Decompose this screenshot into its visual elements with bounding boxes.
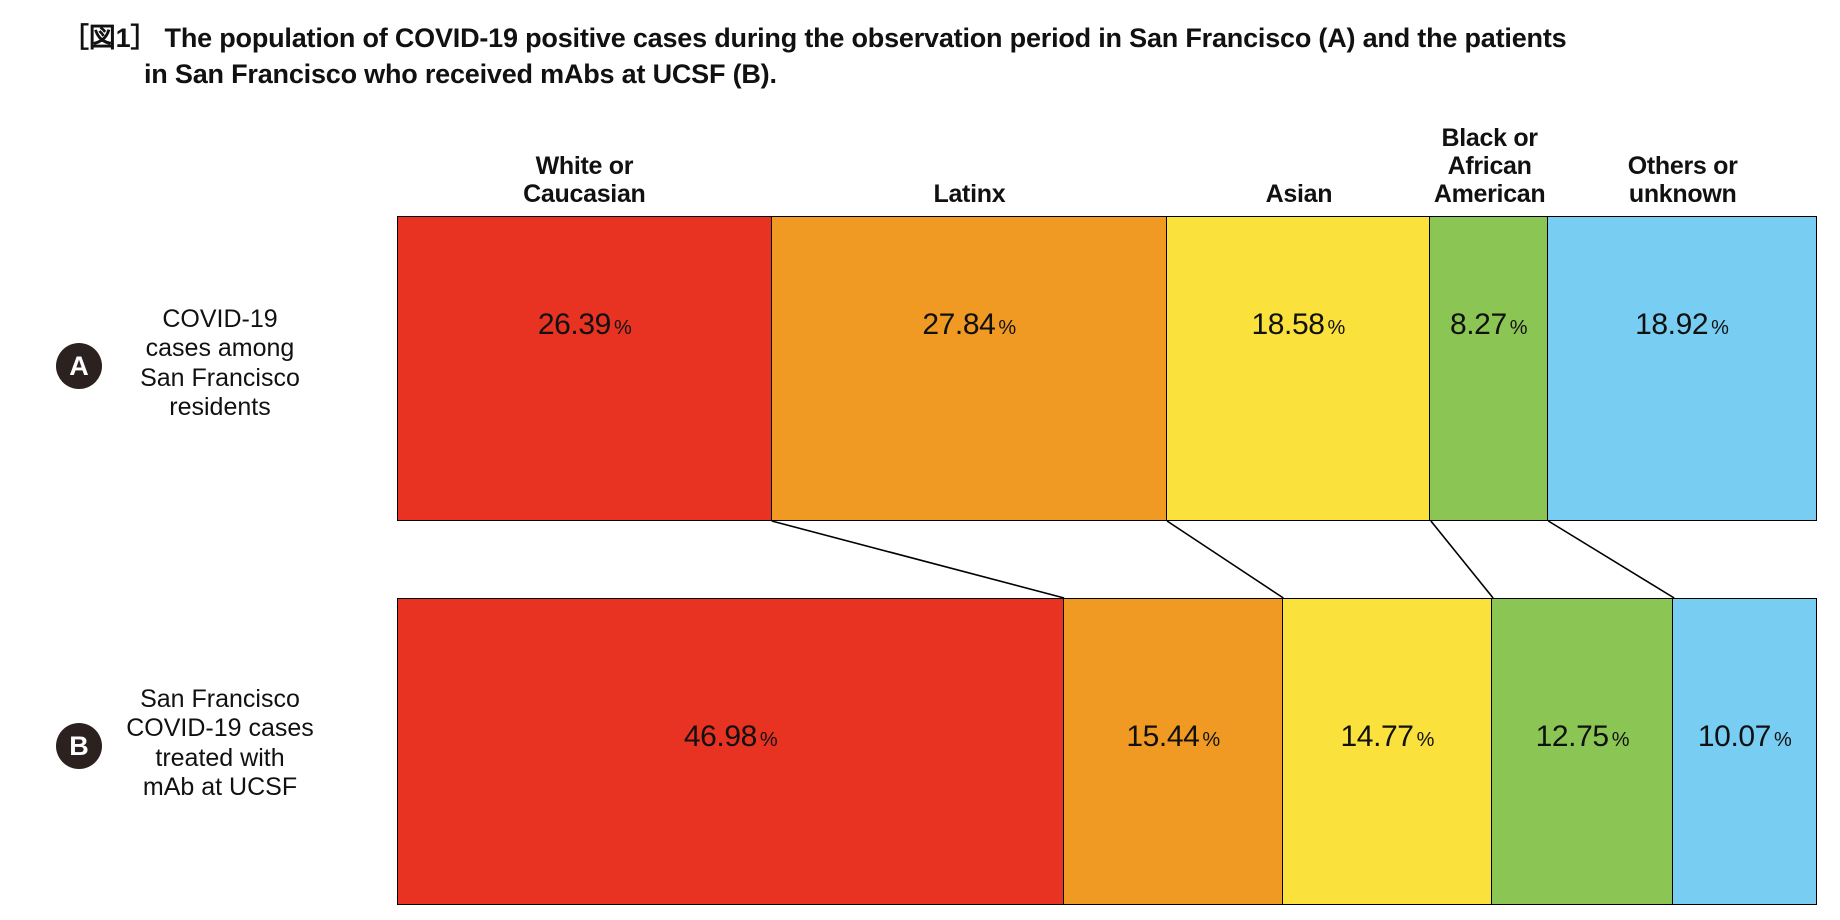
percent-symbol: %	[1417, 729, 1434, 751]
bar-segment: 12.75%	[1492, 599, 1673, 904]
segment-value-label: 14.77%	[1341, 722, 1434, 752]
bar-row-a: 26.39%27.84%18.58%8.27%18.92%	[397, 216, 1817, 521]
stacked-bar-chart: 26.39%27.84%18.58%8.27%18.92% 46.98%15.4…	[397, 216, 1817, 905]
connector-line	[772, 521, 1064, 598]
percent-symbol: %	[1612, 729, 1629, 751]
segment-value-label: 27.84%	[922, 310, 1015, 340]
percent-symbol: %	[1202, 729, 1219, 751]
figure-title-line2: in San Francisco who received mAbs at UC…	[62, 56, 1822, 92]
column-header-2: Latinx	[933, 180, 1005, 208]
column-header-4: Black or African American	[1434, 124, 1546, 208]
row-label-b: San Francisco COVID-19 cases treated wit…	[60, 685, 380, 802]
column-header-3: Asian	[1266, 180, 1333, 208]
percent-symbol: %	[1774, 729, 1791, 751]
connector-line	[1548, 521, 1674, 598]
column-headers: White or CaucasianLatinxAsianBlack or Af…	[397, 106, 1817, 212]
connector-line	[1167, 521, 1283, 598]
figure-title-line1: The population of COVID-19 positive case…	[165, 23, 1567, 53]
segment-value-label: 12.75%	[1536, 722, 1629, 752]
bar-segment: 26.39%	[398, 217, 772, 520]
segment-value-label: 10.07%	[1698, 722, 1791, 752]
segment-value-label: 18.92%	[1635, 310, 1728, 340]
percent-symbol: %	[1711, 317, 1728, 339]
segment-value-label: 15.44%	[1126, 722, 1219, 752]
segment-value-label: 46.98%	[684, 722, 777, 752]
column-header-1: White or Caucasian	[523, 152, 645, 208]
bar-segment: 27.84%	[772, 217, 1167, 520]
percent-symbol: %	[614, 317, 631, 339]
page-title: ［図1］ The population of COVID-19 positive…	[62, 20, 1822, 92]
segment-value-label: 26.39%	[538, 310, 631, 340]
percent-symbol: %	[998, 317, 1015, 339]
bar-segment: 18.92%	[1548, 217, 1816, 520]
segment-value-label: 8.27%	[1450, 310, 1527, 340]
bar-segment: 8.27%	[1430, 217, 1547, 520]
column-header-5: Others or unknown	[1628, 152, 1738, 208]
segment-value-label: 18.58%	[1251, 310, 1344, 340]
bar-segment: 46.98%	[398, 599, 1064, 904]
connector-lines	[397, 521, 1817, 598]
connector-line	[1431, 521, 1493, 598]
row-label-a: COVID-19 cases among San Francisco resid…	[60, 305, 380, 422]
bar-segment: 14.77%	[1283, 599, 1492, 904]
percent-symbol: %	[1328, 317, 1345, 339]
percent-symbol: %	[760, 729, 777, 751]
bar-segment: 18.58%	[1167, 217, 1430, 520]
bar-row-b: 46.98%15.44%14.77%12.75%10.07%	[397, 598, 1817, 905]
bar-segment: 10.07%	[1673, 599, 1816, 904]
percent-symbol: %	[1510, 317, 1527, 339]
bar-segment: 15.44%	[1064, 599, 1283, 904]
figure-label: ［図1］	[62, 23, 157, 53]
